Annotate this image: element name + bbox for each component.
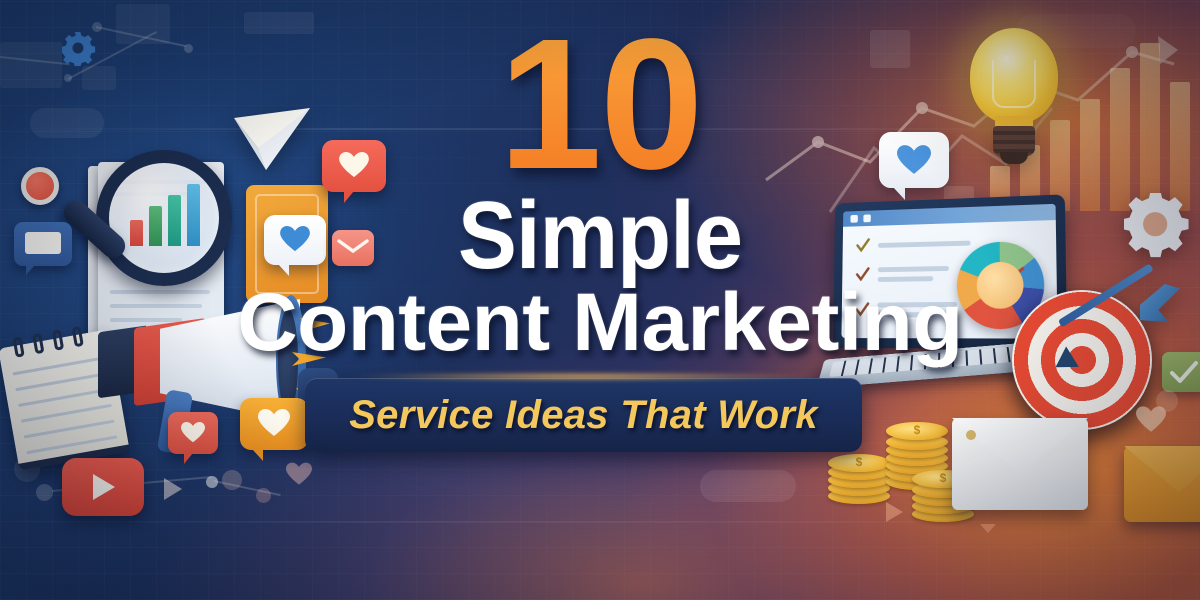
- magnifying-glass-icon: [96, 150, 232, 286]
- paper-plane-icon: [232, 108, 312, 174]
- network-node: [36, 484, 53, 501]
- heart-speech-bubble-icon: [322, 140, 386, 192]
- ghost-square: [244, 12, 314, 34]
- coin-stack-icon: $: [828, 452, 892, 508]
- check-badge-icon: [1162, 352, 1200, 392]
- coin-symbol: $: [828, 455, 890, 469]
- arrow-icon: [1012, 290, 1152, 430]
- check-icon: [855, 302, 870, 318]
- ghost-cloud: [30, 108, 104, 138]
- heart-ghost-icon: [1136, 406, 1162, 430]
- mail-icon: [332, 230, 374, 266]
- play-triangle-ghost: [886, 502, 903, 522]
- play-button-icon[interactable]: [62, 458, 144, 516]
- network-node: [1156, 390, 1178, 412]
- play-triangle-ghost: [164, 478, 182, 500]
- check-icon: [855, 267, 870, 283]
- chat-bubble-icon: [14, 222, 72, 266]
- subtitle-text: Service Ideas That Work: [349, 395, 818, 435]
- gear-icon: [62, 32, 96, 66]
- heart-speech-bubble-icon: [264, 215, 326, 265]
- sound-burst-icon: [300, 318, 330, 332]
- ghost-cloud: [700, 470, 796, 502]
- record-dot-icon: [21, 167, 59, 205]
- envelope-icon: [1124, 446, 1200, 522]
- heart-speech-bubble-icon: [879, 132, 949, 188]
- heart-speech-bubble-icon: [240, 398, 308, 450]
- gear-icon: [1124, 193, 1190, 259]
- play-triangle-ghost: [980, 524, 996, 533]
- magnifier-bar-chart: [130, 184, 202, 246]
- ghost-envelope: [82, 66, 116, 90]
- marketing-banner: $ $ $ 10 Simple Content Marketing: [0, 0, 1200, 600]
- heart-ghost-icon: [286, 462, 312, 486]
- browser-titlebar: [843, 204, 1056, 227]
- ghost-square: [116, 4, 170, 44]
- heart-speech-bubble-icon: [168, 412, 218, 454]
- lightbulb-icon: [962, 28, 1066, 156]
- network-link: [214, 480, 281, 496]
- check-icon: [856, 237, 871, 253]
- coin-symbol: $: [886, 423, 948, 437]
- envelope-icon: [952, 418, 1088, 510]
- ghost-square: [0, 42, 62, 88]
- ghost-square: [870, 30, 910, 68]
- subtitle-bar[interactable]: Service Ideas That Work: [305, 378, 862, 452]
- scanline: [0, 521, 1200, 523]
- target-bullseye-icon: [1012, 290, 1152, 430]
